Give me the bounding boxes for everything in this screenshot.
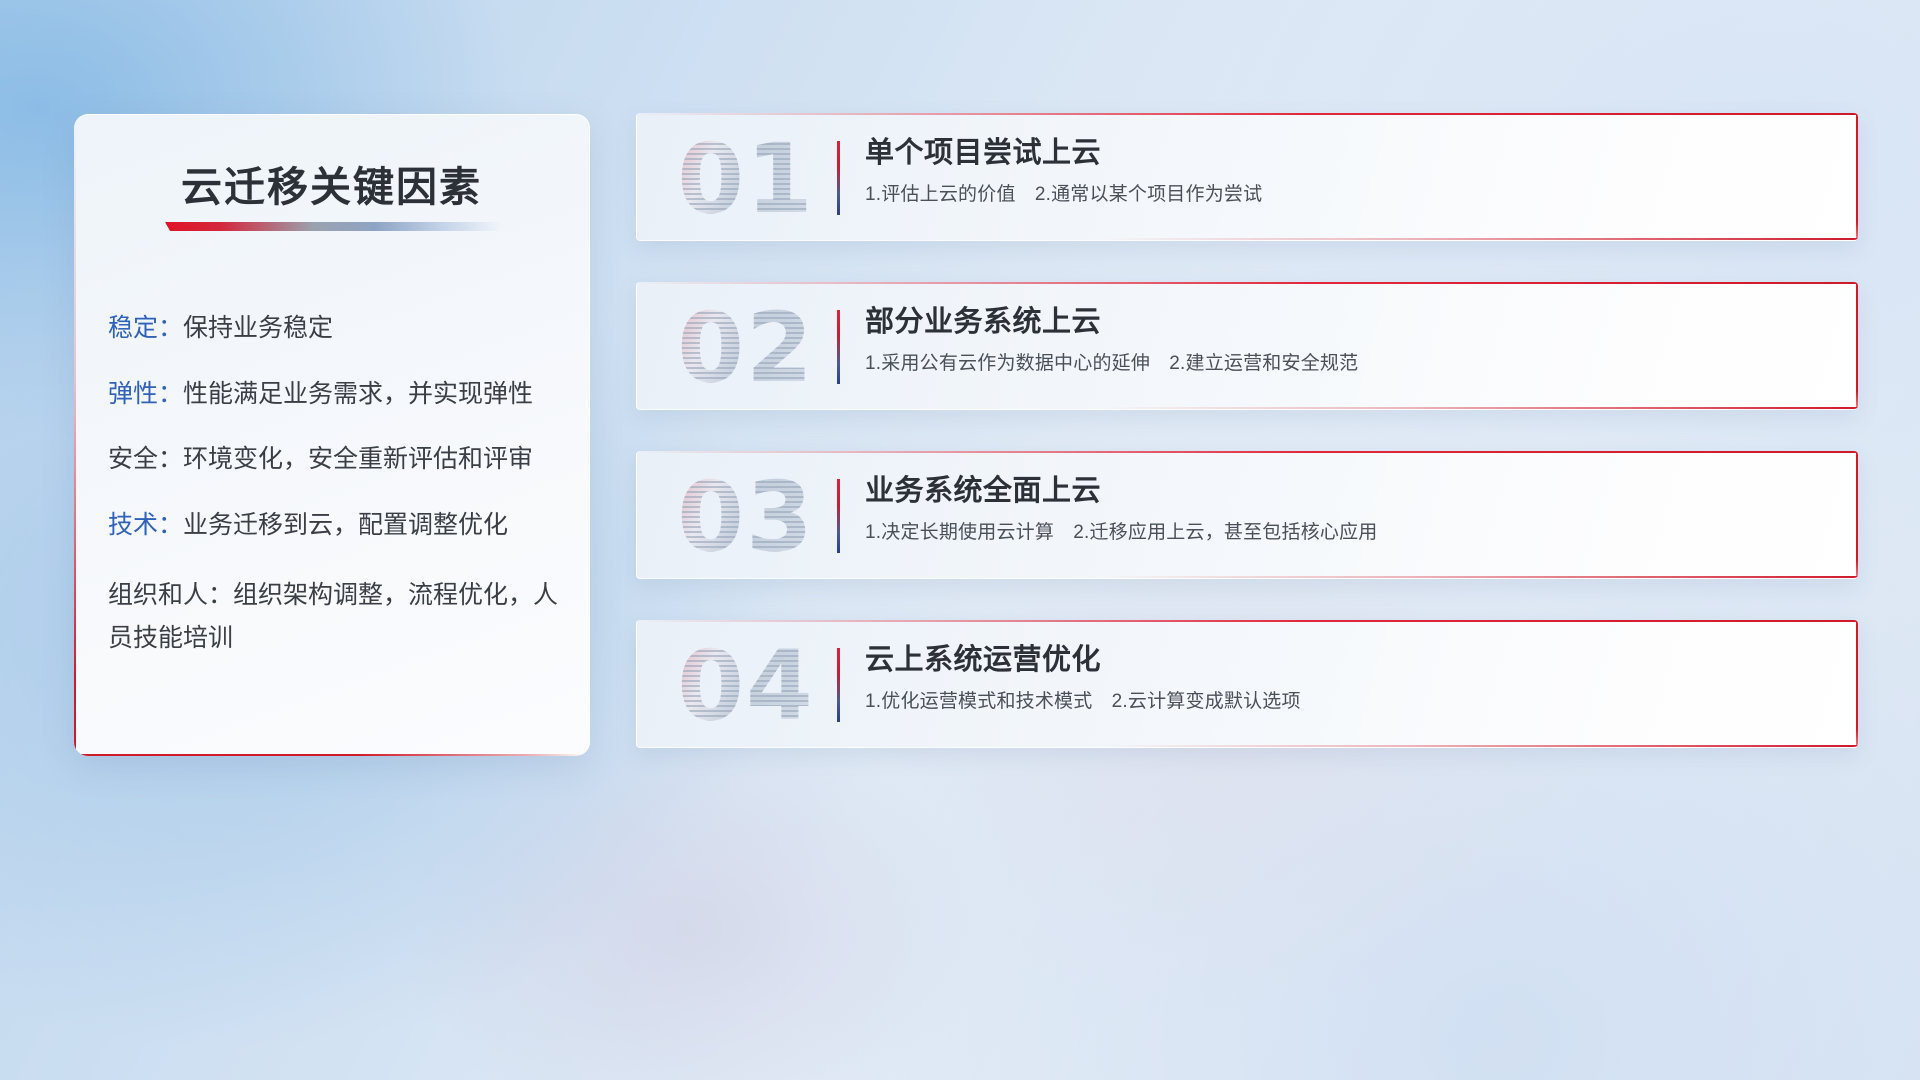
factor-value: 环境变化，安全重新评估和评审 bbox=[183, 445, 533, 473]
card-top-accent-line bbox=[637, 620, 1858, 622]
card-subtitle: 1.优化运营模式和技术模式 2.云计算变成默认选项 bbox=[865, 690, 1818, 715]
card-text-block: 单个项目尝试上云 1.评估上云的价值 2.通常以某个项目作为尝试 bbox=[865, 135, 1818, 208]
card-divider-bar bbox=[837, 310, 840, 384]
card-divider-bar bbox=[837, 648, 840, 722]
card-right-accent-line bbox=[1856, 451, 1858, 578]
stage-card-02[interactable]: 02 部分业务系统上云 1.采用公有云作为数据中心的延伸 2.建立运营和安全规范 bbox=[636, 282, 1858, 410]
card-top-accent-line bbox=[637, 451, 1858, 453]
card-text-block: 部分业务系统上云 1.采用公有云作为数据中心的延伸 2.建立运营和安全规范 bbox=[865, 304, 1818, 377]
card-right-accent-line bbox=[1856, 113, 1858, 240]
stage-number-badge: 03 bbox=[661, 461, 831, 573]
card-subtitle: 1.决定长期使用云计算 2.迁移应用上云，甚至包括核心应用 bbox=[865, 521, 1818, 546]
panel-title: 云迁移关键因素 bbox=[74, 153, 589, 213]
factor-list: 稳定：保持业务稳定 弹性：性能满足业务需求，并实现弹性 安全：环境变化，安全重新… bbox=[108, 312, 563, 660]
factor-key: 技术： bbox=[108, 511, 183, 539]
title-underline-bar bbox=[165, 222, 503, 231]
factor-item-organization-and-people: 组织和人：组织架构调整，流程优化，人员技能培训 bbox=[108, 574, 563, 660]
migration-stage-card-list: 01 单个项目尝试上云 1.评估上云的价值 2.通常以某个项目作为尝试 02 部… bbox=[636, 113, 1858, 748]
card-title: 业务系统全面上云 bbox=[865, 473, 1818, 509]
factor-value: 性能满足业务需求，并实现弹性 bbox=[183, 380, 533, 408]
card-right-accent-line bbox=[1856, 282, 1858, 409]
factor-value: 保持业务稳定 bbox=[183, 314, 333, 342]
card-title: 云上系统运营优化 bbox=[865, 642, 1818, 678]
card-bottom-accent-line bbox=[1101, 745, 1858, 747]
factor-key: 弹性： bbox=[108, 380, 183, 408]
slide-canvas: 云迁移关键因素 稳定：保持业务稳定 弹性：性能满足业务需求，并实现弹性 安全：环… bbox=[0, 0, 1920, 1080]
factor-item-technology: 技术：业务迁移到云，配置调整优化 bbox=[108, 509, 563, 542]
panel-bottom-accent-edge bbox=[74, 754, 589, 756]
stage-card-01[interactable]: 01 单个项目尝试上云 1.评估上云的价值 2.通常以某个项目作为尝试 bbox=[636, 113, 1858, 241]
card-text-block: 云上系统运营优化 1.优化运营模式和技术模式 2.云计算变成默认选项 bbox=[865, 642, 1818, 715]
stage-number: 03 bbox=[677, 461, 815, 573]
stage-number-badge: 02 bbox=[661, 292, 831, 404]
card-title: 部分业务系统上云 bbox=[865, 304, 1818, 340]
stage-number: 02 bbox=[677, 292, 815, 404]
stage-number-badge: 04 bbox=[661, 630, 831, 742]
factor-key: 稳定： bbox=[108, 314, 183, 342]
stage-number-badge: 01 bbox=[661, 123, 831, 235]
key-factors-panel: 云迁移关键因素 稳定：保持业务稳定 弹性：性能满足业务需求，并实现弹性 安全：环… bbox=[74, 114, 590, 756]
card-subtitle: 1.评估上云的价值 2.通常以某个项目作为尝试 bbox=[865, 183, 1818, 208]
stage-number: 04 bbox=[677, 630, 815, 742]
stage-number: 01 bbox=[677, 123, 815, 235]
factor-item-security: 安全：环境变化，安全重新评估和评审 bbox=[108, 443, 563, 476]
card-subtitle: 1.采用公有云作为数据中心的延伸 2.建立运营和安全规范 bbox=[865, 352, 1818, 377]
card-text-block: 业务系统全面上云 1.决定长期使用云计算 2.迁移应用上云，甚至包括核心应用 bbox=[865, 473, 1818, 546]
stage-card-03[interactable]: 03 业务系统全面上云 1.决定长期使用云计算 2.迁移应用上云，甚至包括核心应… bbox=[636, 451, 1858, 579]
card-bottom-accent-line bbox=[1101, 576, 1858, 578]
card-bottom-accent-line bbox=[1101, 407, 1858, 409]
stage-card-04[interactable]: 04 云上系统运营优化 1.优化运营模式和技术模式 2.云计算变成默认选项 bbox=[636, 620, 1858, 748]
card-bottom-accent-line bbox=[1101, 238, 1858, 240]
card-divider-bar bbox=[837, 141, 840, 215]
card-right-accent-line bbox=[1856, 620, 1858, 747]
card-top-accent-line bbox=[637, 113, 1858, 115]
factor-item-elasticity: 弹性：性能满足业务需求，并实现弹性 bbox=[108, 378, 563, 411]
factor-value: 业务迁移到云，配置调整优化 bbox=[183, 511, 508, 539]
card-title: 单个项目尝试上云 bbox=[865, 135, 1818, 171]
card-top-accent-line bbox=[637, 282, 1858, 284]
factor-item-stability: 稳定：保持业务稳定 bbox=[108, 312, 563, 345]
factor-key: 组织和人： bbox=[108, 581, 233, 609]
card-divider-bar bbox=[837, 479, 840, 553]
factor-key: 安全： bbox=[108, 445, 183, 473]
